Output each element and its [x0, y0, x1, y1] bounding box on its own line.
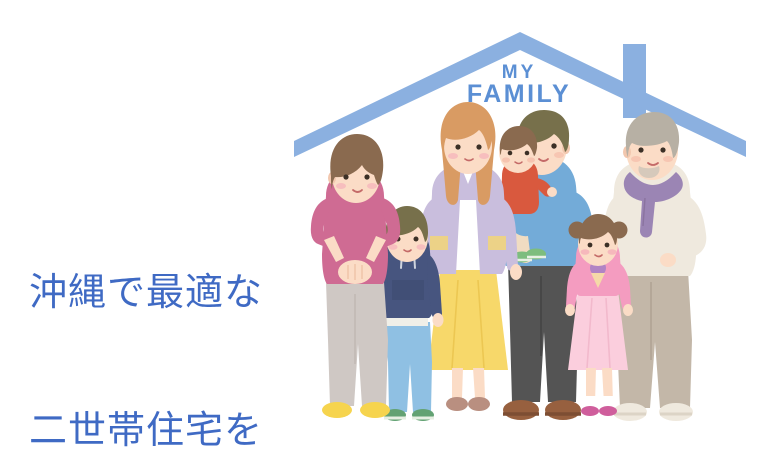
- girl-socks: [585, 396, 613, 404]
- mother-shoe-left: [446, 397, 468, 411]
- grandfather-cheek-left: [631, 156, 641, 162]
- grandmother-cheek-left: [336, 183, 346, 189]
- grandmother-shoe-left: [322, 402, 352, 418]
- father-trousers: [508, 262, 578, 402]
- grandfather-eye-right: [660, 147, 665, 152]
- boy-eye-right: [414, 237, 419, 242]
- grandmother-eye-right: [364, 174, 369, 179]
- baby-cheek-left: [502, 157, 510, 162]
- grandfather-shoe-left: [613, 403, 647, 421]
- mother-legs: [452, 368, 485, 398]
- boy-jeans: [384, 322, 432, 412]
- illustration-banner: 沖縄で最適な 二世帯住宅を 建てるには MY FAMILY: [0, 0, 760, 454]
- grandfather-hand-right: [660, 253, 676, 267]
- baby-eye-right: [525, 151, 530, 156]
- boy-cheek-right: [417, 244, 426, 250]
- boy-hoodie-pocket: [392, 280, 424, 300]
- father-shoe-right: [545, 400, 581, 420]
- girl-eye-right: [605, 243, 610, 248]
- girl-shoe-left: [581, 406, 599, 416]
- girl-shoe-right: [599, 406, 617, 416]
- girl-hand-right: [623, 304, 633, 316]
- girl-cheek-right: [608, 249, 617, 255]
- grandmother-cheek-right: [367, 183, 377, 189]
- mother-eye-right: [476, 144, 481, 149]
- mother-shoe-right: [468, 397, 490, 411]
- girl-hand-left: [565, 304, 575, 316]
- baby-hand: [547, 187, 557, 197]
- father-eye-right: [551, 143, 556, 148]
- mother-pocket-right: [488, 236, 506, 250]
- family-house-illustration: MY FAMILY: [0, 0, 760, 454]
- mother-hand-right: [510, 264, 522, 280]
- father-cheek-right: [554, 152, 564, 158]
- girl-skirt: [568, 290, 628, 370]
- baby-eye-left: [508, 151, 513, 156]
- girl-cheek-left: [581, 249, 590, 255]
- grandmother-shoe-right: [360, 402, 390, 418]
- baby-cheek-right: [527, 157, 535, 162]
- grandfather-shoe-right: [659, 403, 693, 421]
- mother-cheek-left: [448, 153, 458, 159]
- grandmother-eye-left: [343, 174, 348, 179]
- mother-pocket-left: [430, 236, 448, 250]
- grandfather-eye-left: [638, 147, 643, 152]
- sign-family-text: FAMILY: [467, 80, 571, 108]
- house-sign: MY FAMILY: [467, 62, 571, 108]
- mother-eye-left: [455, 144, 460, 149]
- mother-cheek-right: [479, 153, 489, 159]
- grandmother-trousers: [326, 282, 388, 406]
- boy-hand-right: [433, 313, 444, 327]
- grandfather-cheek-right: [663, 156, 673, 162]
- girl-eye-left: [588, 243, 593, 248]
- father-shoe-left: [503, 400, 539, 420]
